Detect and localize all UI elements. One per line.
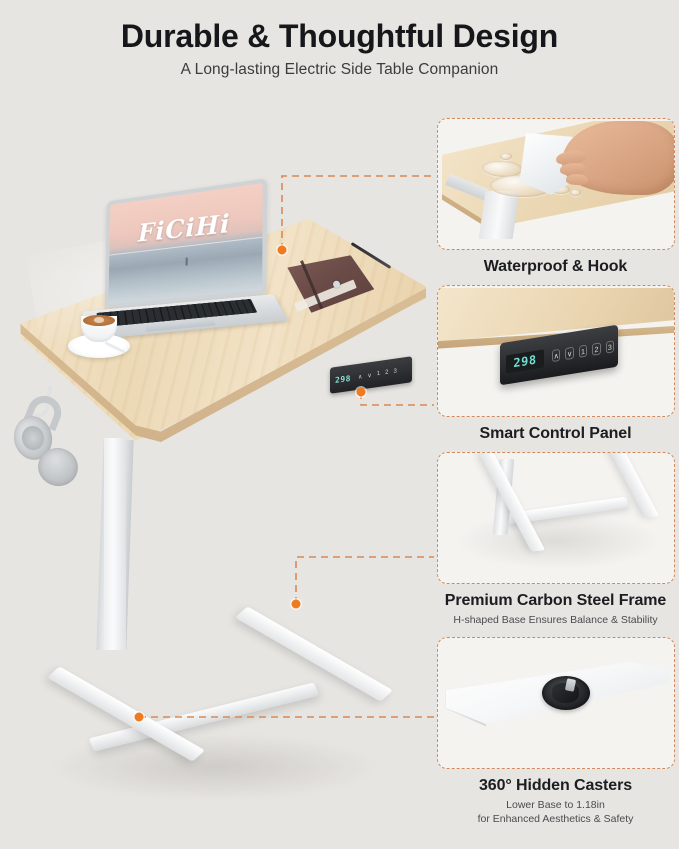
callout-dot-casters [135,713,144,722]
preset-1-button[interactable]: 1 [377,370,380,377]
panel-casters-subtitle: Lower Base to 1.18in [432,798,679,812]
control-panel-buttons[interactable]: ∧ ∨ 1 2 3 [358,368,397,380]
notebook [287,255,375,314]
panel-preset-3-button[interactable]: 3 [605,340,613,353]
height-display: 298 [335,373,351,384]
panel-frame: Premium Carbon Steel Frame H-shaped Base… [432,452,679,637]
hand [562,121,675,195]
product-scene: FiCiHi 298 [0,118,440,849]
panel-casters-caption: 360° Hidden Casters [432,777,679,795]
preset-3-button[interactable]: 3 [393,368,396,375]
infographic-page: Durable & Thoughtful Design A Long-lasti… [0,0,679,849]
notebook-clasp [333,280,340,287]
down-arrow-icon[interactable]: ∨ [367,371,371,379]
panel-preset-1-button[interactable]: 1 [578,345,586,358]
panel-waterproof-caption: Waterproof & Hook [432,258,679,276]
panel-frame-image [437,452,675,584]
caster-wheel [542,676,590,710]
control-panel-keys[interactable]: ∧ ∨ 1 2 3 [552,330,614,372]
page-title: Durable & Thoughtful Design [0,18,679,55]
panel-down-arrow-icon[interactable]: ∨ [565,347,573,360]
screen-figure [186,257,188,265]
panel-casters-image [437,637,675,769]
panel-control-caption: Smart Control Panel [432,425,679,443]
up-arrow-icon[interactable]: ∧ [358,373,362,381]
callout-dot-control-panel [357,388,366,397]
latte-art [83,315,115,326]
panel-casters-subtitle-2: for Enhanced Aesthetics & Safety [432,812,679,826]
laptop-screen: FiCiHi [108,183,262,304]
panel-frame-caption: Premium Carbon Steel Frame [432,592,679,610]
panel-control-image: 298 ∧ ∨ 1 2 3 [437,285,675,417]
panel-waterproof: Waterproof & Hook [432,118,679,285]
preset-2-button[interactable]: 2 [385,369,388,376]
callout-dot-waterproof [278,246,287,255]
feature-panels: Waterproof & Hook 298 ∧ ∨ 1 2 3 Smar [432,118,679,827]
page-subtitle: A Long-lasting Electric Side Table Compa… [0,61,679,79]
coffee-cup [68,314,130,360]
control-panel-display: 298 [506,349,544,373]
laptop-lid: FiCiHi [105,178,267,309]
panel-control: 298 ∧ ∨ 1 2 3 Smart Control Panel [432,285,679,452]
panel-casters: 360° Hidden Casters Lower Base to 1.18in… [432,637,679,827]
header: Durable & Thoughtful Design A Long-lasti… [0,18,679,79]
h-base [20,624,410,824]
panel-preset-2-button[interactable]: 2 [592,342,600,355]
frame-shadow [458,513,658,569]
brand-logo-text: FiCiHi [109,205,262,250]
panel-up-arrow-icon[interactable]: ∧ [552,349,560,362]
headphones [12,396,78,488]
callout-dot-frame [292,600,301,609]
desk-column-inner [104,438,126,650]
panel-frame-subtitle: H-shaped Base Ensures Balance & Stabilit… [432,613,679,627]
panel-waterproof-image [437,118,675,250]
